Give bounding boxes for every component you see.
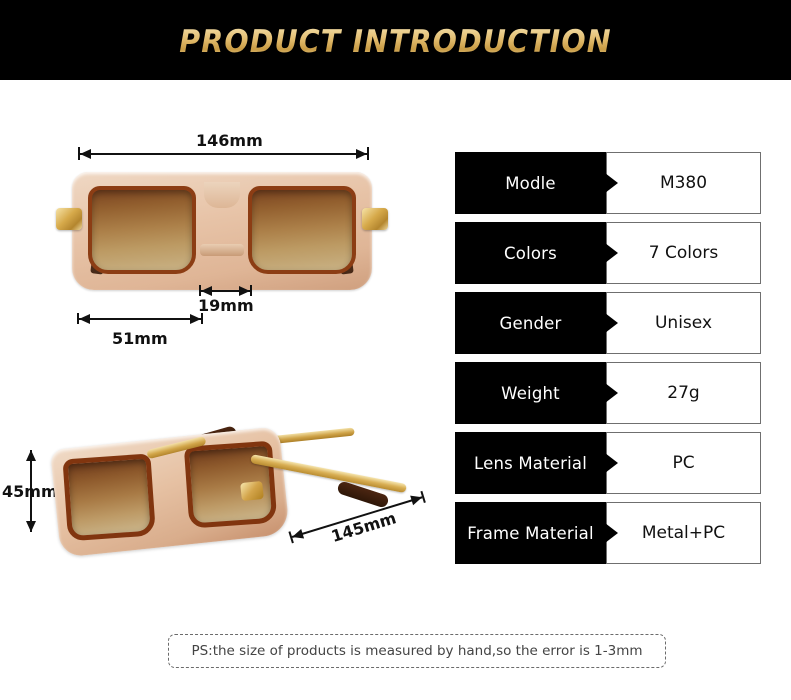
spec-label-cell: Modle [455,152,606,214]
arrow-right-icon [605,523,618,543]
spec-value-text: Unisex [655,313,712,333]
spec-label-text: Frame Material [467,524,594,543]
dimension-front-width-label: 146mm [196,131,263,150]
spec-value-cell: Unisex [606,292,761,354]
dim-arrow-up [26,450,36,461]
dim-line [80,153,367,155]
arrow-right-icon [605,313,618,333]
arrow-right-icon [605,173,618,193]
spec-value-text: 27g [667,383,699,403]
spec-value-cell: M380 [606,152,761,214]
spec-label-cell: Lens Material [455,432,606,494]
front-lens-left [88,186,196,274]
angle-lens-left [62,453,156,541]
spec-label-text: Lens Material [474,454,587,473]
spec-value-cell: PC [606,432,761,494]
dim-arrow-down [26,521,36,532]
spec-label-cell: Colors [455,222,606,284]
dim-line [79,318,201,320]
spec-label-text: Weight [501,384,560,403]
dim-arrow-right [190,314,201,324]
dim-arrow-left [80,149,91,159]
front-hinge-left [56,208,82,230]
front-lens-right [248,186,356,274]
angle-lens-right [184,441,278,529]
spec-label-text: Gender [499,314,561,333]
spec-value-text: Metal+PC [642,523,725,543]
dim-arrow-left [290,529,303,542]
dimension-lens-width-label: 51mm [112,329,168,348]
page-title: PRODUCT INTRODUCTION [32,24,760,60]
table-row: Colors 7 Colors [455,222,761,284]
spec-label-cell: Frame Material [455,502,606,564]
measurement-note: PS:the size of products is measured by h… [168,634,666,668]
spec-label-text: Modle [505,174,556,193]
spec-value-text: PC [672,453,694,473]
table-row: Modle M380 [455,152,761,214]
table-row: Frame Material Metal+PC [455,502,761,564]
dim-cap-right [250,285,252,296]
dimension-bridge-width-label: 19mm [198,296,254,315]
dim-cap-right [367,147,369,160]
arrow-right-icon [605,453,618,473]
spec-value-cell: 27g [606,362,761,424]
front-hinge-right [362,208,388,230]
spec-label-cell: Weight [455,362,606,424]
spec-label-text: Colors [504,244,557,263]
front-bridge-bar [200,244,244,256]
spec-value-text: 7 Colors [649,243,718,263]
angle-hinge [240,481,264,501]
dim-arrow-left [201,286,212,296]
dimension-temple-length: 145mm [276,498,426,558]
dim-arrow-left [79,314,90,324]
dim-cap-right [201,313,203,324]
spec-label-cell: Gender [455,292,606,354]
measurement-note-text: PS:the size of products is measured by h… [191,643,642,659]
spec-value-cell: Metal+PC [606,502,761,564]
sunglasses-front-view [72,172,372,297]
dim-arrow-right [356,149,367,159]
spec-table: Modle M380 Colors 7 Colors Gender Unisex [455,152,761,572]
spec-value-text: M380 [660,173,707,193]
table-row: Gender Unisex [455,292,761,354]
table-row: Weight 27g [455,362,761,424]
arrow-right-icon [605,243,618,263]
spec-value-cell: 7 Colors [606,222,761,284]
front-bridge [204,182,240,208]
header-band: PRODUCT INTRODUCTION [0,0,791,80]
product-introduction-page: PRODUCT INTRODUCTION 146mm 19mm [0,0,791,700]
dimension-lens-height-label: 45mm [2,482,58,501]
dim-arrow-right [239,286,250,296]
arrow-right-icon [605,383,618,403]
table-row: Lens Material PC [455,432,761,494]
